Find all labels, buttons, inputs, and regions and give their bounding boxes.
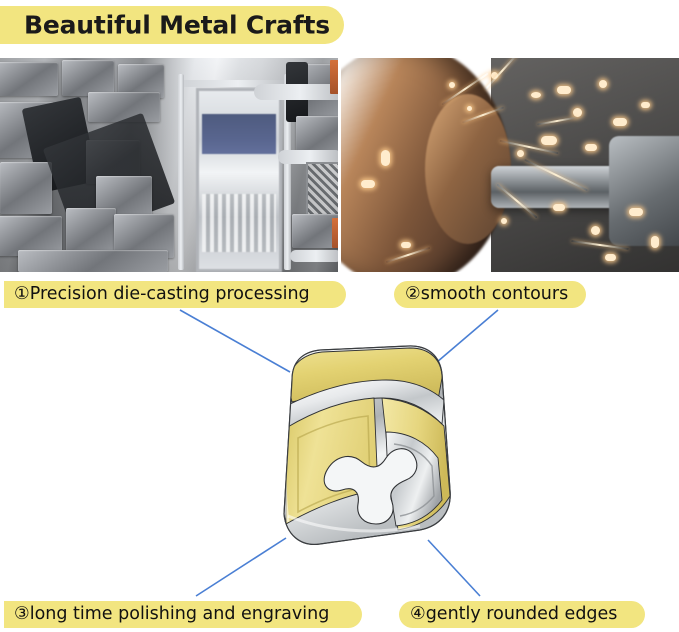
feature-text-3: long time polishing and engraving — [30, 604, 330, 624]
feature-text-1: Precision die-casting processing — [30, 284, 310, 304]
photo-strip — [0, 58, 679, 272]
feature-label-4: ④gently rounded edges — [410, 606, 617, 624]
machine-glass-door — [196, 88, 282, 272]
feature-label-2: ②smooth contours — [405, 286, 568, 304]
lathe-scene — [341, 58, 679, 272]
feature-marker-4: ④ — [410, 604, 426, 624]
feature-label-3: ③long time polishing and engraving — [14, 606, 329, 624]
metal-cube-craft-image — [262, 340, 458, 556]
page-title-badge: Beautiful Metal Crafts — [0, 6, 344, 44]
feature-label-1: ①Precision die-casting processing — [14, 286, 310, 304]
feature-badge-1: ①Precision die-casting processing — [4, 281, 346, 308]
feature-marker-3: ③ — [14, 604, 30, 624]
page-title: Beautiful Metal Crafts — [24, 11, 330, 40]
feature-badge-3: ③long time polishing and engraving — [4, 601, 362, 628]
metal-cube-graphic — [262, 340, 458, 556]
feature-marker-1: ① — [14, 284, 30, 304]
die-casting-factory-photo — [0, 58, 338, 272]
feature-text-4: gently rounded edges — [426, 604, 618, 624]
feature-badge-2: ②smooth contours — [394, 281, 586, 308]
metal-machining-sparks-photo — [341, 58, 679, 272]
factory-scene — [0, 58, 338, 272]
feature-marker-2: ② — [405, 284, 421, 304]
feature-badge-4: ④gently rounded edges — [399, 601, 645, 628]
feature-text-2: smooth contours — [421, 284, 569, 304]
